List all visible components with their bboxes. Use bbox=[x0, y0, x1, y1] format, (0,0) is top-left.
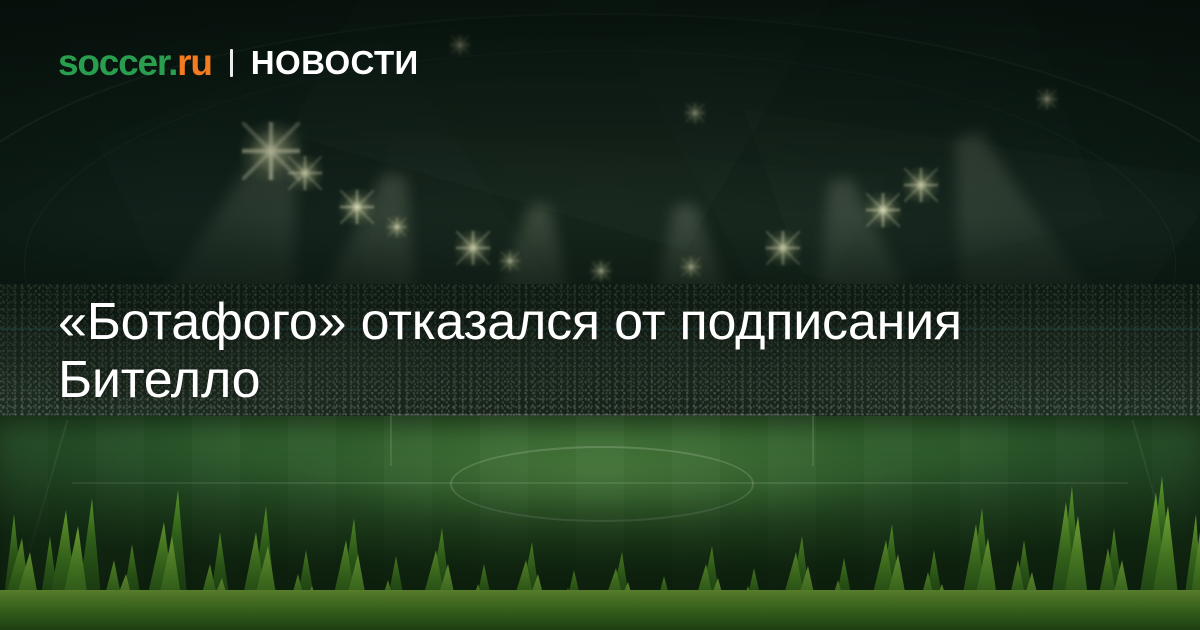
card-content: soccer.ru НОВОСТИ «Ботафого» отказался о… bbox=[0, 0, 1200, 630]
news-share-card: soccer.ru НОВОСТИ «Ботафого» отказался о… bbox=[0, 0, 1200, 630]
brand-separator bbox=[230, 49, 233, 77]
logo-tld: ru bbox=[177, 42, 212, 83]
logo-word: soccer bbox=[58, 42, 168, 83]
brand-bar: soccer.ru НОВОСТИ bbox=[58, 44, 419, 81]
logo-dot: . bbox=[168, 42, 177, 83]
site-logo[interactable]: soccer.ru bbox=[58, 44, 212, 81]
article-headline: «Ботафого» отказался от подписания Бител… bbox=[58, 293, 1154, 409]
section-label: НОВОСТИ bbox=[251, 46, 419, 79]
